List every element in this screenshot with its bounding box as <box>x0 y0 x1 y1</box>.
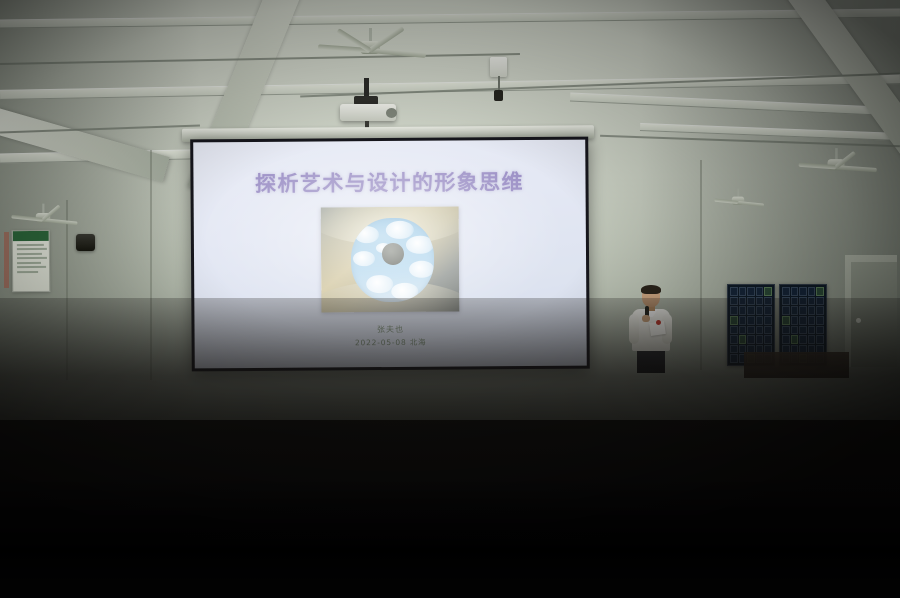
seat-number-cell <box>756 287 764 296</box>
notice-text-line <box>17 266 46 268</box>
seat-number-cell <box>747 287 755 296</box>
cloud-shape <box>353 251 375 266</box>
wall-notice-poster <box>12 230 51 292</box>
cloud-shape <box>409 261 434 278</box>
seat-number-cell <box>782 287 790 296</box>
notice-text-line <box>17 270 38 272</box>
notice-text-line <box>17 257 47 259</box>
cloud-shape <box>386 221 414 240</box>
seat-number-cell <box>730 287 738 296</box>
notice-text-line <box>17 261 41 263</box>
seat-number-cell <box>764 287 772 296</box>
presenter-hair <box>641 285 661 294</box>
slide-figure-eye-with-sky-painting <box>321 207 460 313</box>
cloud-shape <box>366 275 393 294</box>
audience-shadow-base <box>0 298 900 598</box>
camera-junction-box <box>490 57 507 77</box>
projector-lens <box>386 108 397 118</box>
eye-iris-sky <box>351 217 434 302</box>
eye-pupil <box>382 243 404 265</box>
slide-title: 探析艺术与设计的形象思维 <box>193 166 585 199</box>
wall-speaker <box>76 234 95 251</box>
audience-seating <box>0 298 900 598</box>
notice-header-bar <box>13 231 49 241</box>
seat-number-cell <box>808 287 816 296</box>
notice-text-line <box>17 248 47 250</box>
cloud-shape <box>354 226 379 243</box>
security-camera-icon <box>494 90 503 101</box>
notice-text-line <box>17 243 44 245</box>
ceiling-fan-right-far <box>724 189 751 204</box>
ceiling-fan-center <box>340 28 400 62</box>
notice-text-line <box>17 252 42 254</box>
seat-number-cell <box>791 287 799 296</box>
cloud-shape <box>406 236 434 255</box>
ceiling-fan-left <box>25 204 61 223</box>
seat-number-cell <box>739 287 747 296</box>
lecture-hall-photo: 探析艺术与设计的形象思维 张夫也 2022-05-08 <box>0 0 900 598</box>
notice-side-strip <box>4 232 9 288</box>
seat-number-cell <box>799 287 807 296</box>
ceiling-fan-right-near <box>814 148 858 172</box>
seat-number-cell <box>816 287 824 296</box>
